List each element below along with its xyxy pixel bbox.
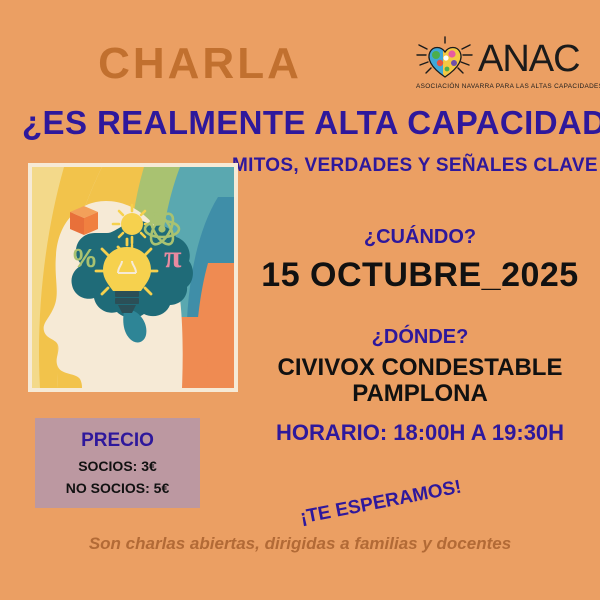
- when-value: 15 OCTUBRE_2025: [250, 256, 590, 295]
- where-label: ¿DÓNDE?: [260, 326, 580, 349]
- price-members: SOCIOS: 3€: [35, 458, 200, 474]
- anac-logo: ANAC ASOCIACIÓN NAVARRA PARA LAS ALTAS C…: [416, 36, 588, 98]
- page-title: ¿ES REALMENTE ALTA CAPACIDAD?: [22, 106, 482, 141]
- venue-city: PAMPLONA: [250, 380, 590, 408]
- schedule-text: HORARIO: 18:00H A 19:30H: [258, 420, 582, 446]
- brain-ideas-illustration: % π: [28, 163, 238, 392]
- event-poster: CHARLA: [0, 0, 600, 600]
- logo-row: ANAC: [416, 36, 588, 82]
- call-to-action: ¡TE ESPERAMOS!: [295, 476, 466, 530]
- price-title: PRECIO: [35, 430, 200, 452]
- price-non-members: NO SOCIOS: 5€: [35, 480, 200, 496]
- poster-kicker: CHARLA: [0, 42, 400, 86]
- pi-symbol-icon: π: [164, 238, 182, 274]
- logo-tagline: ASOCIACIÓN NAVARRA PARA LAS ALTAS CAPACI…: [416, 83, 588, 90]
- colorful-brain-heart-icon: [416, 36, 474, 82]
- page-subtitle: MITOS, VERDADES Y SEÑALES CLAVE: [232, 155, 542, 177]
- venue-name: CIVIVOX CONDESTABLE: [250, 354, 590, 382]
- footer-note: Son charlas abiertas, dirigidas a famili…: [0, 534, 600, 554]
- when-label: ¿CUÁNDO?: [260, 226, 580, 249]
- price-box: PRECIO SOCIOS: 3€ NO SOCIOS: 5€: [35, 418, 200, 508]
- percent-symbol-icon: %: [73, 243, 96, 273]
- logo-wordmark: ANAC: [478, 37, 580, 81]
- orange-cube-icon: [70, 206, 98, 235]
